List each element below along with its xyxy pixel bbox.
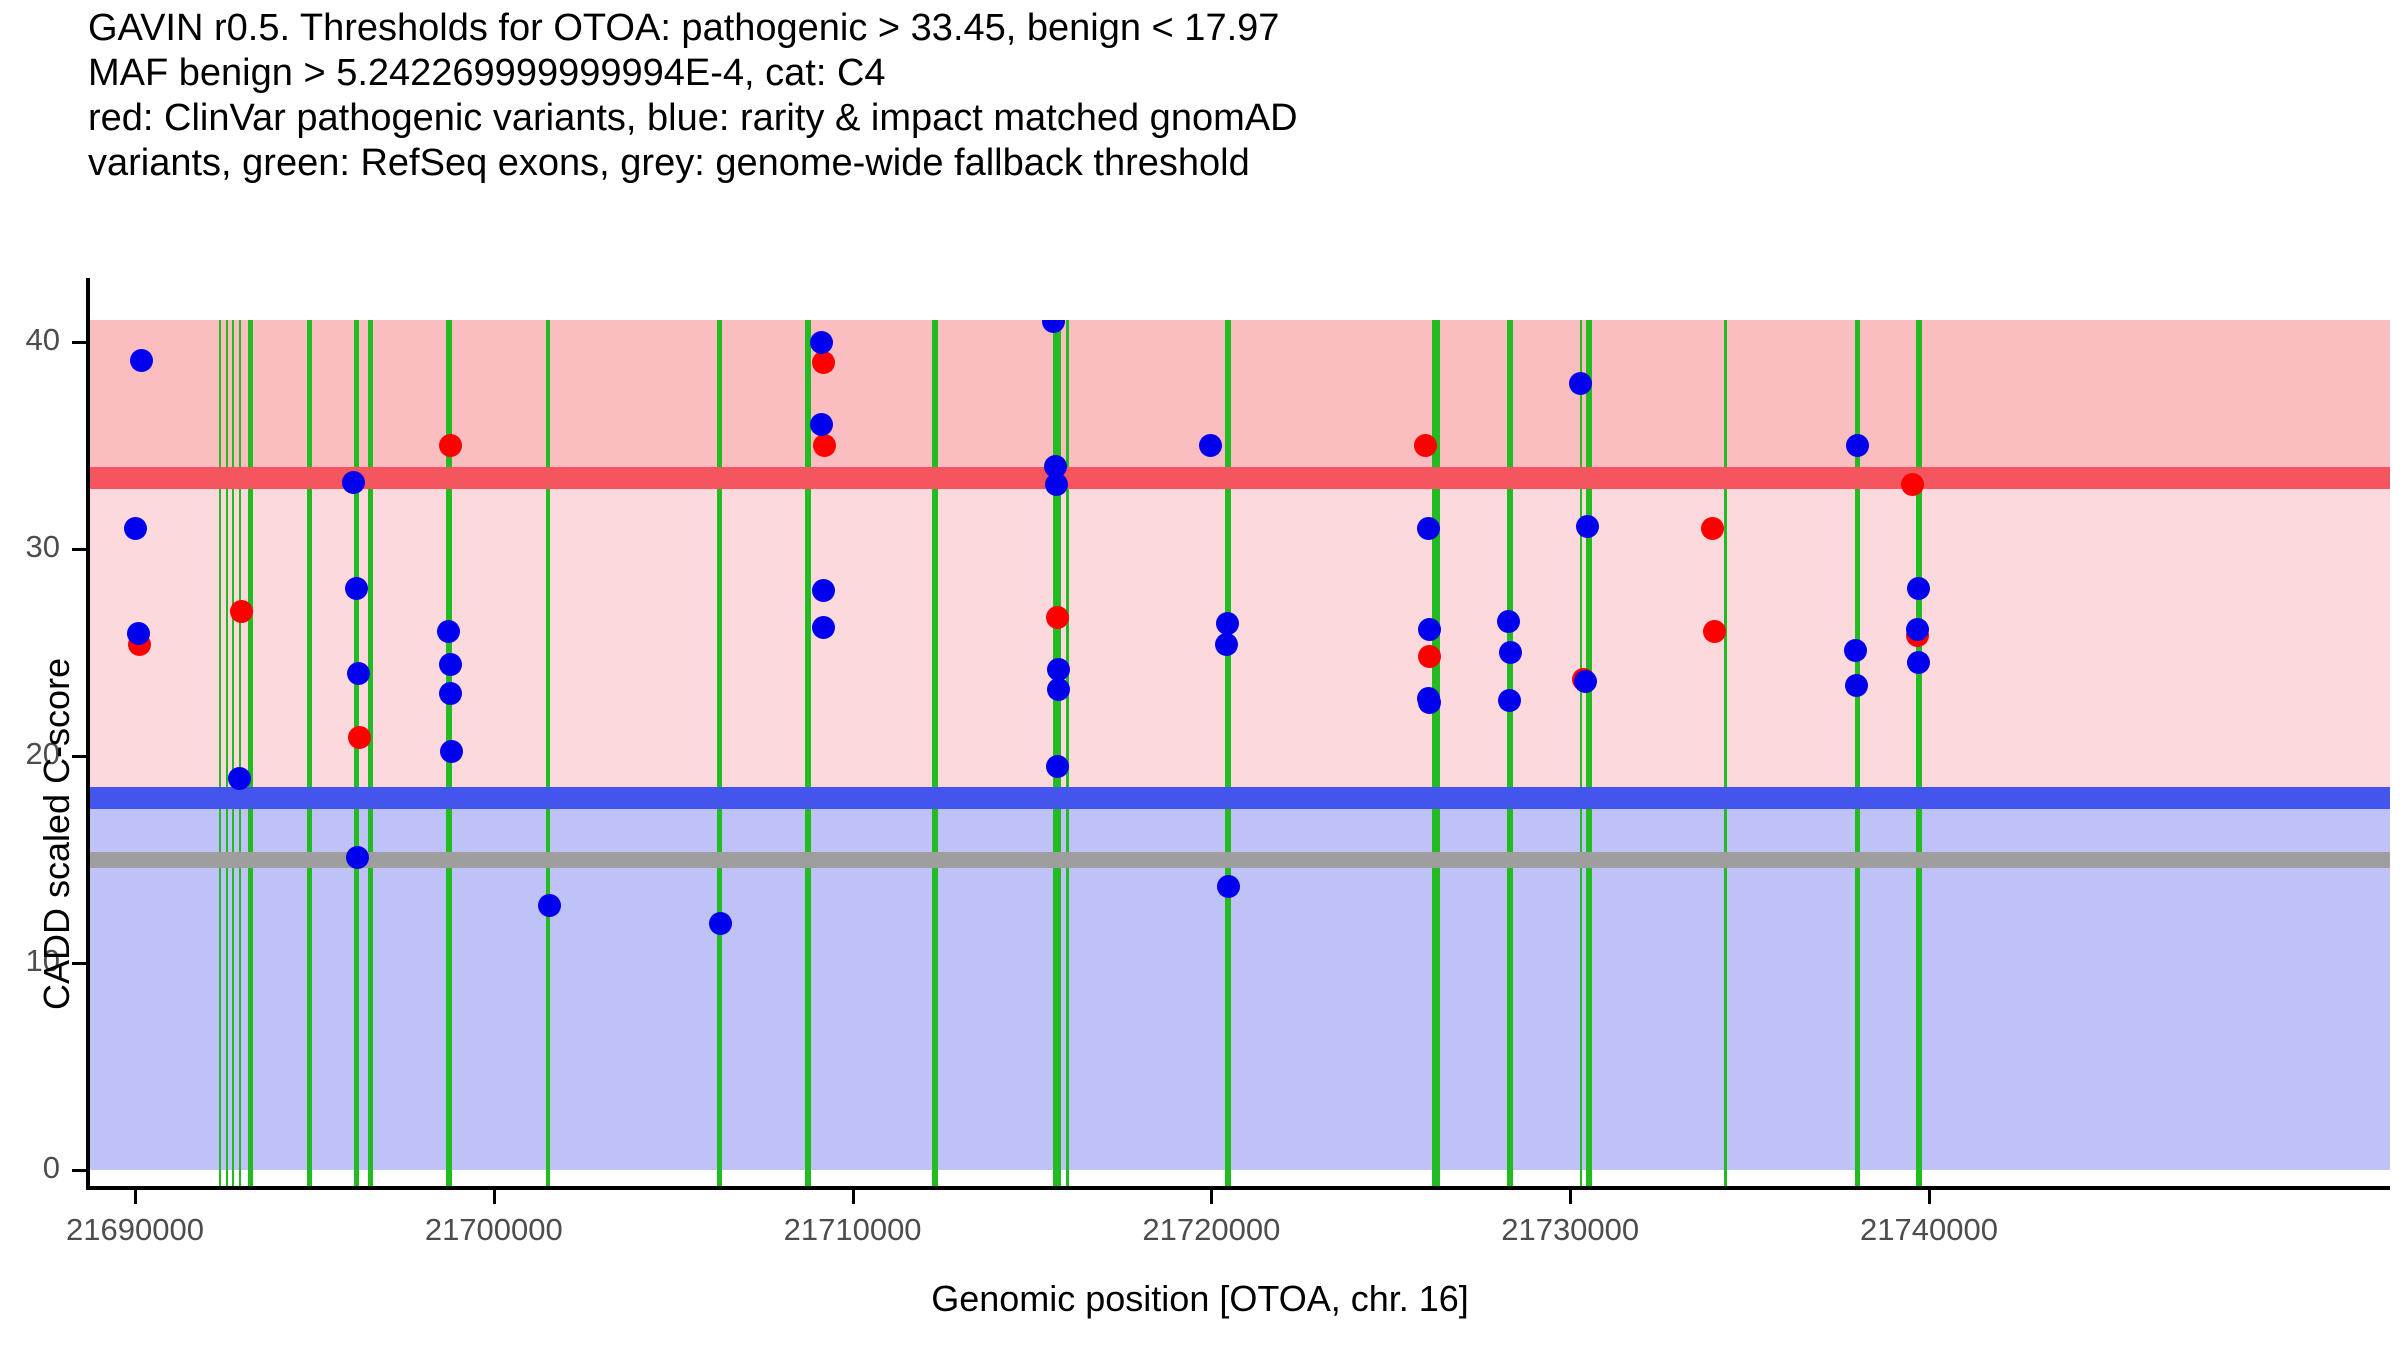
gnomad-variant-point — [810, 331, 833, 354]
gnomad-variant-point — [1417, 517, 1440, 540]
gnomad-variant-point — [1574, 670, 1597, 693]
gnomad-variant-point — [347, 662, 370, 685]
clinvar-variant-point — [813, 434, 836, 457]
x-tick-label: 21740000 — [1779, 1212, 2079, 1248]
y-axis-label: CADD scaled C-score — [36, 658, 78, 1010]
gnomad-variant-point — [1846, 434, 1869, 457]
gnomad-variant-point — [1215, 633, 1238, 656]
band-intermediate — [88, 478, 2390, 798]
fallback-threshold-line — [88, 852, 2390, 868]
x-tick-label: 21720000 — [1061, 1212, 1361, 1248]
clinvar-variant-point — [1046, 606, 1069, 629]
gnomad-variant-point — [124, 517, 147, 540]
exon-line — [932, 320, 938, 1186]
y-tick — [72, 341, 86, 344]
chart-title: GAVIN r0.5. Thresholds for OTOA: pathoge… — [88, 6, 2388, 186]
clinvar-variant-point — [230, 600, 253, 623]
exon-line — [1507, 320, 1513, 1186]
x-tick-label: 21730000 — [1420, 1212, 1720, 1248]
exon-line — [1066, 320, 1069, 1186]
gnomad-variant-point — [1576, 515, 1599, 538]
exon-line — [354, 320, 359, 1186]
exon-line — [1724, 320, 1727, 1186]
gnomad-variant-point — [538, 894, 561, 917]
y-tick — [72, 548, 86, 551]
x-tick-label: 21690000 — [0, 1212, 285, 1248]
title-line-3: red: ClinVar pathogenic variants, blue: … — [88, 96, 2388, 141]
exon-line — [219, 320, 221, 1186]
gnomad-variant-point — [1217, 875, 1240, 898]
title-line-1: GAVIN r0.5. Thresholds for OTOA: pathoge… — [88, 6, 2388, 51]
x-tick-label: 21700000 — [344, 1212, 644, 1248]
exon-line — [239, 320, 241, 1186]
clinvar-variant-point — [1701, 517, 1724, 540]
x-tick — [493, 1190, 496, 1204]
exon-line — [248, 320, 253, 1186]
exon-line — [1586, 320, 1592, 1186]
y-axis-line — [86, 278, 90, 1190]
gnomad-variant-point — [1418, 691, 1441, 714]
gnomad-variant-point — [345, 577, 368, 600]
x-axis-label: Genomic position [OTOA, chr. 16] — [0, 1278, 2400, 1320]
gnomad-variant-point — [1216, 612, 1239, 635]
exon-line — [368, 320, 373, 1186]
exon-line — [805, 320, 811, 1186]
y-tick — [72, 1169, 86, 1172]
exon-line — [1225, 320, 1231, 1186]
gnomad-variant-point — [228, 767, 251, 790]
x-tick — [852, 1190, 855, 1204]
pathogenic-threshold-line — [88, 467, 2390, 489]
x-axis-line — [86, 1186, 2390, 1190]
exon-line — [546, 320, 550, 1186]
plot-panel — [88, 320, 2390, 1186]
exon-line — [1053, 320, 1061, 1186]
exon-line — [717, 320, 722, 1186]
clinvar-variant-point — [1418, 645, 1441, 668]
gnomad-variant-point — [1907, 577, 1930, 600]
gnomad-variant-point — [1498, 689, 1521, 712]
x-tick — [134, 1190, 137, 1204]
x-tick — [1928, 1190, 1931, 1204]
y-tick-label: 0 — [0, 1150, 60, 1186]
title-line-2: MAF benign > 5.242269999999994E-4, cat: … — [88, 51, 2388, 96]
clinvar-variant-point — [348, 726, 371, 749]
x-tick-label: 21710000 — [703, 1212, 1003, 1248]
exon-line — [226, 320, 228, 1186]
exon-line — [1916, 320, 1922, 1186]
gnomad-variant-point — [439, 653, 462, 676]
gnomad-variant-point — [127, 622, 150, 645]
x-tick — [1210, 1190, 1213, 1204]
chart-root: GAVIN r0.5. Thresholds for OTOA: pathoge… — [0, 0, 2400, 1350]
y-tick-label: 40 — [0, 322, 60, 358]
benign-threshold-line — [88, 787, 2390, 809]
title-line-4: variants, green: RefSeq exons, grey: gen… — [88, 141, 2388, 186]
gnomad-variant-point — [1844, 639, 1867, 662]
exon-line — [1580, 320, 1582, 1186]
x-tick — [1569, 1190, 1572, 1204]
exon-line — [232, 320, 234, 1186]
clinvar-variant-point — [439, 434, 462, 457]
gnomad-variant-point — [1499, 641, 1522, 664]
gnomad-variant-point — [812, 579, 835, 602]
y-tick-label: 30 — [0, 529, 60, 565]
gnomad-variant-point — [1047, 658, 1070, 681]
exon-line — [307, 320, 312, 1186]
band-pathogenic — [88, 320, 2390, 478]
